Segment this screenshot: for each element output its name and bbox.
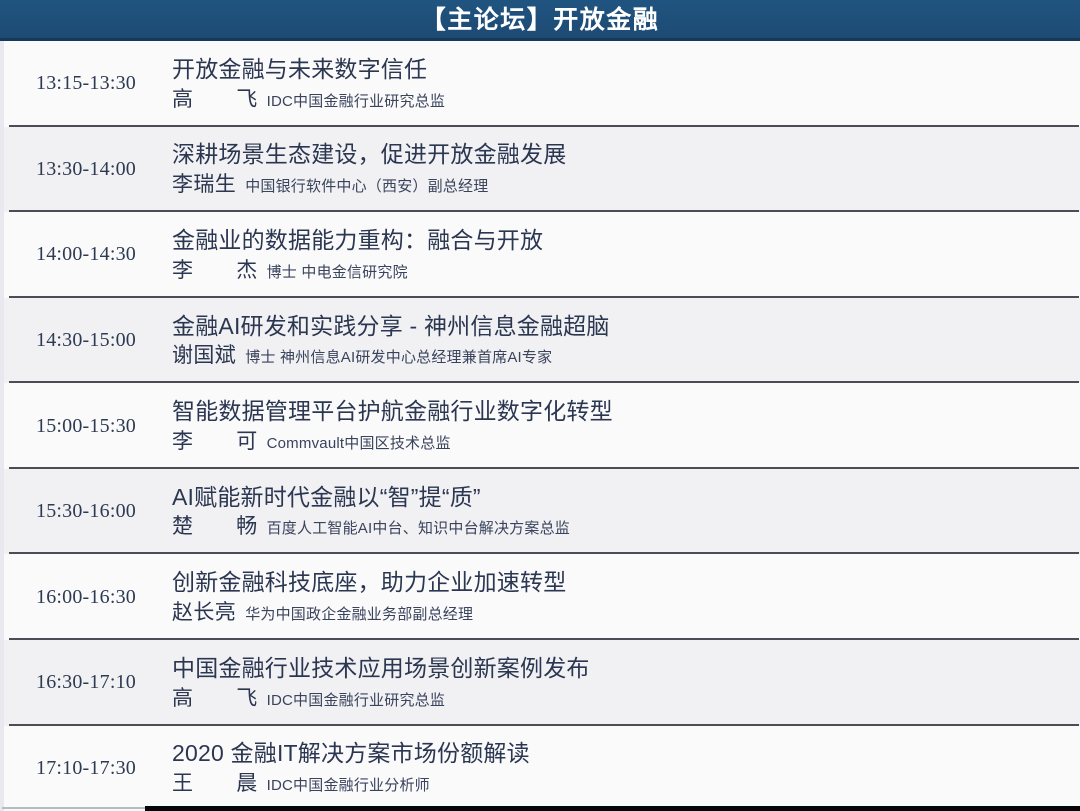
speaker-affiliation: 华为中国政企金融业务部副总经理	[245, 607, 473, 624]
session-time: 14:30-15:00	[4, 329, 162, 352]
session-speaker-line: 楚 畅 百度人工智能AI中台、知识中台解决方案总监	[172, 515, 1064, 538]
session-time: 15:00-15:30	[4, 415, 162, 438]
speaker-affiliation: 博士 中电金信研究院	[267, 265, 408, 282]
session-time: 13:30-14:00	[4, 158, 162, 181]
session-topic: 深耕场景生态建设，促进开放金融发展	[172, 142, 1064, 168]
session-topic: 金融业的数据能力重构：融合与开放	[172, 228, 1064, 254]
session-speaker-line: 赵长亮 华为中国政企金融业务部副总经理	[172, 601, 1064, 624]
agenda-panel: 【主论坛】开放金融 13:15-13:30 开放金融与未来数字信任 高 飞 ID…	[0, 0, 1080, 811]
session-row[interactable]: 16:30-17:10 中国金融行业技术应用场景创新案例发布 高 飞 IDC中国…	[0, 640, 1080, 726]
footer-rules	[0, 804, 1080, 811]
session-time: 16:30-17:10	[4, 671, 162, 694]
session-speaker-line: 李 杰 博士 中电金信研究院	[172, 259, 1064, 282]
speaker-affiliation: Commvault中国区技术总监	[267, 436, 451, 453]
speaker-name: 李瑞生	[172, 173, 236, 196]
speaker-affiliation: IDC中国金融行业研究总监	[267, 94, 445, 111]
speaker-name: 李 可	[172, 430, 258, 453]
session-topic: 创新金融科技底座，助力企业加速转型	[172, 570, 1064, 596]
page-title: 【主论坛】开放金融	[421, 8, 660, 33]
session-time: 16:00-16:30	[4, 586, 162, 609]
session-details: AI赋能新时代金融以“智”提“质” 楚 畅 百度人工智能AI中台、知识中台解决方…	[162, 485, 1080, 539]
session-row[interactable]: 17:10-17:30 2020 金融IT解决方案市场份额解读 王 晨 IDC中…	[0, 726, 1080, 811]
session-details: 2020 金融IT解决方案市场份额解读 王 晨 IDC中国金融行业分析师	[162, 741, 1080, 795]
session-row[interactable]: 16:00-16:30 创新金融科技底座，助力企业加速转型 赵长亮 华为中国政企…	[0, 554, 1080, 640]
session-list: 13:15-13:30 开放金融与未来数字信任 高 飞 IDC中国金融行业研究总…	[0, 41, 1080, 811]
session-details: 金融AI研发和实践分享 - 神州信息金融超脑 谢国斌 博士 神州信息AI研发中心…	[162, 314, 1080, 368]
speaker-name: 赵长亮	[172, 601, 236, 624]
session-time: 13:15-13:30	[4, 72, 162, 95]
session-row[interactable]: 13:15-13:30 开放金融与未来数字信任 高 飞 IDC中国金融行业研究总…	[0, 41, 1080, 127]
speaker-affiliation: IDC中国金融行业研究总监	[267, 693, 445, 710]
session-speaker-line: 谢国斌 博士 神州信息AI研发中心总经理兼首席AI专家	[172, 344, 1064, 367]
session-topic: 中国金融行业技术应用场景创新案例发布	[172, 656, 1064, 682]
session-row[interactable]: 15:00-15:30 智能数据管理平台护航金融行业数字化转型 李 可 Comm…	[0, 383, 1080, 469]
session-details: 智能数据管理平台护航金融行业数字化转型 李 可 Commvault中国区技术总监	[162, 399, 1080, 453]
session-time: 17:10-17:30	[4, 757, 162, 780]
session-details: 创新金融科技底座，助力企业加速转型 赵长亮 华为中国政企金融业务部副总经理	[162, 570, 1080, 624]
footer-thick-rule	[145, 806, 1080, 811]
session-topic: 2020 金融IT解决方案市场份额解读	[172, 741, 1064, 767]
session-row[interactable]: 14:00-14:30 金融业的数据能力重构：融合与开放 李 杰 博士 中电金信…	[0, 212, 1080, 298]
session-details: 金融业的数据能力重构：融合与开放 李 杰 博士 中电金信研究院	[162, 228, 1080, 282]
session-topic: 金融AI研发和实践分享 - 神州信息金融超脑	[172, 314, 1064, 340]
session-details: 深耕场景生态建设，促进开放金融发展 李瑞生 中国银行软件中心（西安）副总经理	[162, 142, 1080, 196]
session-details: 中国金融行业技术应用场景创新案例发布 高 飞 IDC中国金融行业研究总监	[162, 656, 1080, 710]
speaker-affiliation: 博士 神州信息AI研发中心总经理兼首席AI专家	[245, 350, 552, 367]
speaker-name: 高 飞	[172, 687, 258, 710]
session-speaker-line: 高 飞 IDC中国金融行业研究总监	[172, 687, 1064, 710]
speaker-affiliation: IDC中国金融行业分析师	[267, 778, 430, 795]
session-row[interactable]: 14:30-15:00 金融AI研发和实践分享 - 神州信息金融超脑 谢国斌 博…	[0, 298, 1080, 384]
session-row[interactable]: 15:30-16:00 AI赋能新时代金融以“智”提“质” 楚 畅 百度人工智能…	[0, 469, 1080, 555]
forum-banner: 【主论坛】开放金融	[0, 0, 1080, 41]
speaker-name: 楚 畅	[172, 515, 258, 538]
session-row[interactable]: 13:30-14:00 深耕场景生态建设，促进开放金融发展 李瑞生 中国银行软件…	[0, 127, 1080, 213]
session-details: 开放金融与未来数字信任 高 飞 IDC中国金融行业研究总监	[162, 57, 1080, 111]
session-topic: 智能数据管理平台护航金融行业数字化转型	[172, 399, 1064, 425]
speaker-name: 高 飞	[172, 88, 258, 111]
speaker-name: 谢国斌	[172, 344, 236, 367]
session-topic: 开放金融与未来数字信任	[172, 57, 1064, 83]
speaker-name: 王 晨	[172, 772, 258, 795]
speaker-affiliation: 百度人工智能AI中台、知识中台解决方案总监	[267, 521, 570, 538]
footer-thin-rule	[2, 807, 145, 809]
session-time: 15:30-16:00	[4, 500, 162, 523]
session-speaker-line: 李瑞生 中国银行软件中心（西安）副总经理	[172, 173, 1064, 196]
speaker-affiliation: 中国银行软件中心（西安）副总经理	[245, 179, 488, 196]
session-topic: AI赋能新时代金融以“智”提“质”	[172, 485, 1064, 511]
speaker-name: 李 杰	[172, 259, 258, 282]
session-speaker-line: 高 飞 IDC中国金融行业研究总监	[172, 88, 1064, 111]
session-speaker-line: 李 可 Commvault中国区技术总监	[172, 430, 1064, 453]
session-time: 14:00-14:30	[4, 243, 162, 266]
session-speaker-line: 王 晨 IDC中国金融行业分析师	[172, 772, 1064, 795]
